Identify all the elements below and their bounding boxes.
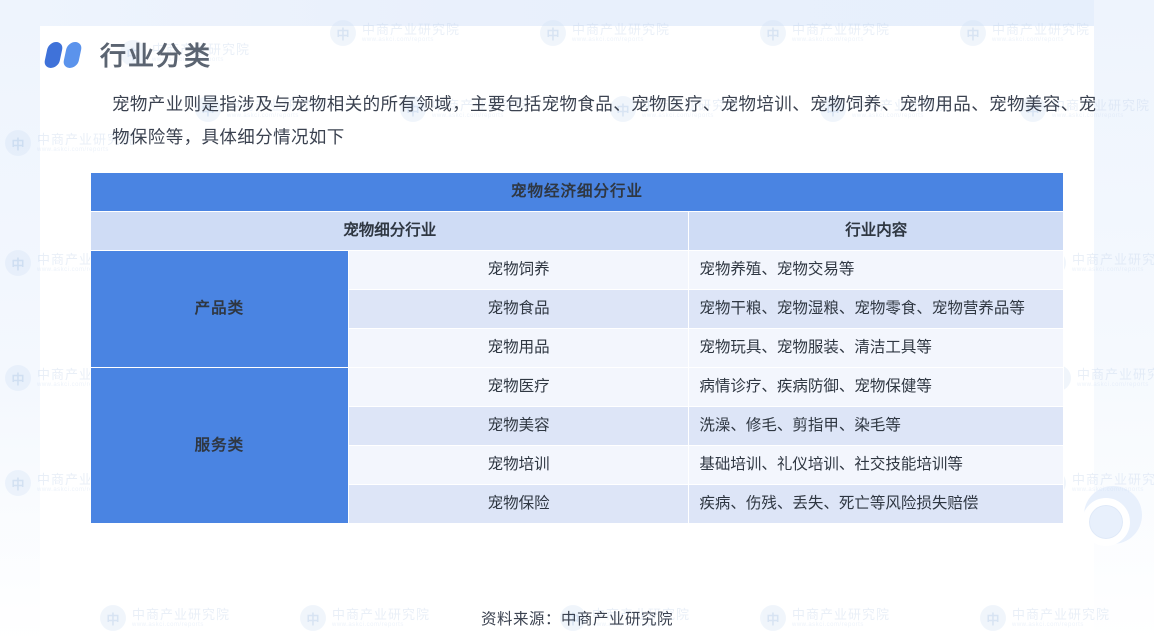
column-header-content: 行业内容 [689, 212, 1064, 251]
table-title: 宠物经济细分行业 [91, 173, 1064, 212]
subindustry-cell: 宠物用品 [348, 329, 689, 368]
content-cell: 病情诊疗、疾病防御、宠物保健等 [689, 368, 1064, 407]
table-row: 产品类宠物饲养宠物养殖、宠物交易等 [91, 251, 1064, 290]
content-cell: 宠物玩具、宠物服装、清洁工具等 [689, 329, 1064, 368]
watermark-en-text: www.askci.com/reports [992, 37, 1090, 43]
subindustry-cell: 宠物食品 [348, 290, 689, 329]
table-title-row: 宠物经济细分行业 [91, 173, 1064, 212]
subindustry-cell: 宠物饲养 [348, 251, 689, 290]
decorative-left-gradient [0, 0, 40, 643]
content-cell: 宠物养殖、宠物交易等 [689, 251, 1064, 290]
content-cell: 疾病、伤残、丢失、死亡等风险损失赔偿 [689, 485, 1064, 524]
content-cell: 宠物干粮、宠物湿粮、宠物零食、宠物营养品等 [689, 290, 1064, 329]
content-cell: 基础培训、礼仪培训、社交技能培训等 [689, 446, 1064, 485]
watermark-en-text: www.askci.com/reports [362, 37, 460, 43]
intro-paragraph: 宠物产业则是指涉及与宠物相关的所有领域，主要包括宠物食品、宠物医疗、宠物培训、宠… [112, 88, 1112, 154]
double-slash-logo-icon [46, 42, 86, 68]
decorative-ring-icon [1082, 498, 1130, 546]
subindustry-cell: 宠物美容 [348, 407, 689, 446]
page-header: 行业分类 [46, 36, 212, 73]
industry-table-wrapper: 宠物经济细分行业 宠物细分行业 行业内容 产品类宠物饲养宠物养殖、宠物交易等宠物… [90, 172, 1064, 524]
subindustry-cell: 宠物培训 [348, 446, 689, 485]
table-header-row: 宠物细分行业 行业内容 [91, 212, 1064, 251]
column-header-subindustry: 宠物细分行业 [91, 212, 689, 251]
decorative-top-band [0, 0, 1154, 26]
content-cell: 洗澡、修毛、剪指甲、染毛等 [689, 407, 1064, 446]
source-note: 资料来源：中商产业研究院 [0, 607, 1154, 629]
watermark-en-text: www.askci.com/reports [572, 37, 670, 43]
page-title: 行业分类 [100, 36, 212, 73]
watermark-en-text: www.askci.com/reports [792, 37, 890, 43]
industry-table: 宠物经济细分行业 宠物细分行业 行业内容 产品类宠物饲养宠物养殖、宠物交易等宠物… [90, 172, 1064, 524]
table-row: 服务类宠物医疗病情诊疗、疾病防御、宠物保健等 [91, 368, 1064, 407]
subindustry-cell: 宠物医疗 [348, 368, 689, 407]
category-cell: 服务类 [91, 368, 349, 524]
category-cell: 产品类 [91, 251, 349, 368]
subindustry-cell: 宠物保险 [348, 485, 689, 524]
